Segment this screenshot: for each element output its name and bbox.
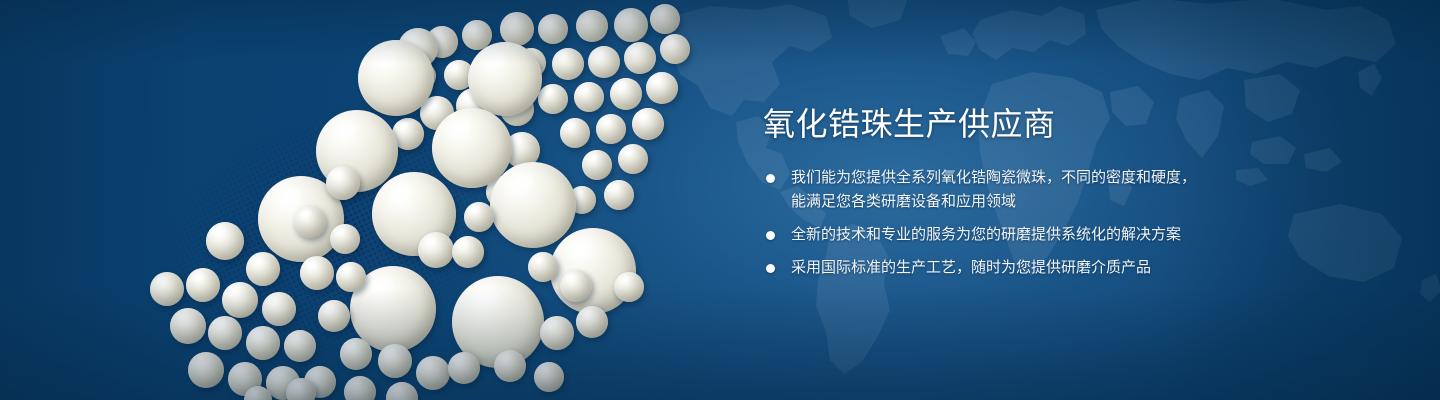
hero-banner: 氧化锆珠生产供应商 我们能为您提供全系列氧化锆陶瓷微珠，不同的密度和硬度， 能满… xyxy=(0,0,1440,400)
banner-vignette xyxy=(0,0,1440,400)
